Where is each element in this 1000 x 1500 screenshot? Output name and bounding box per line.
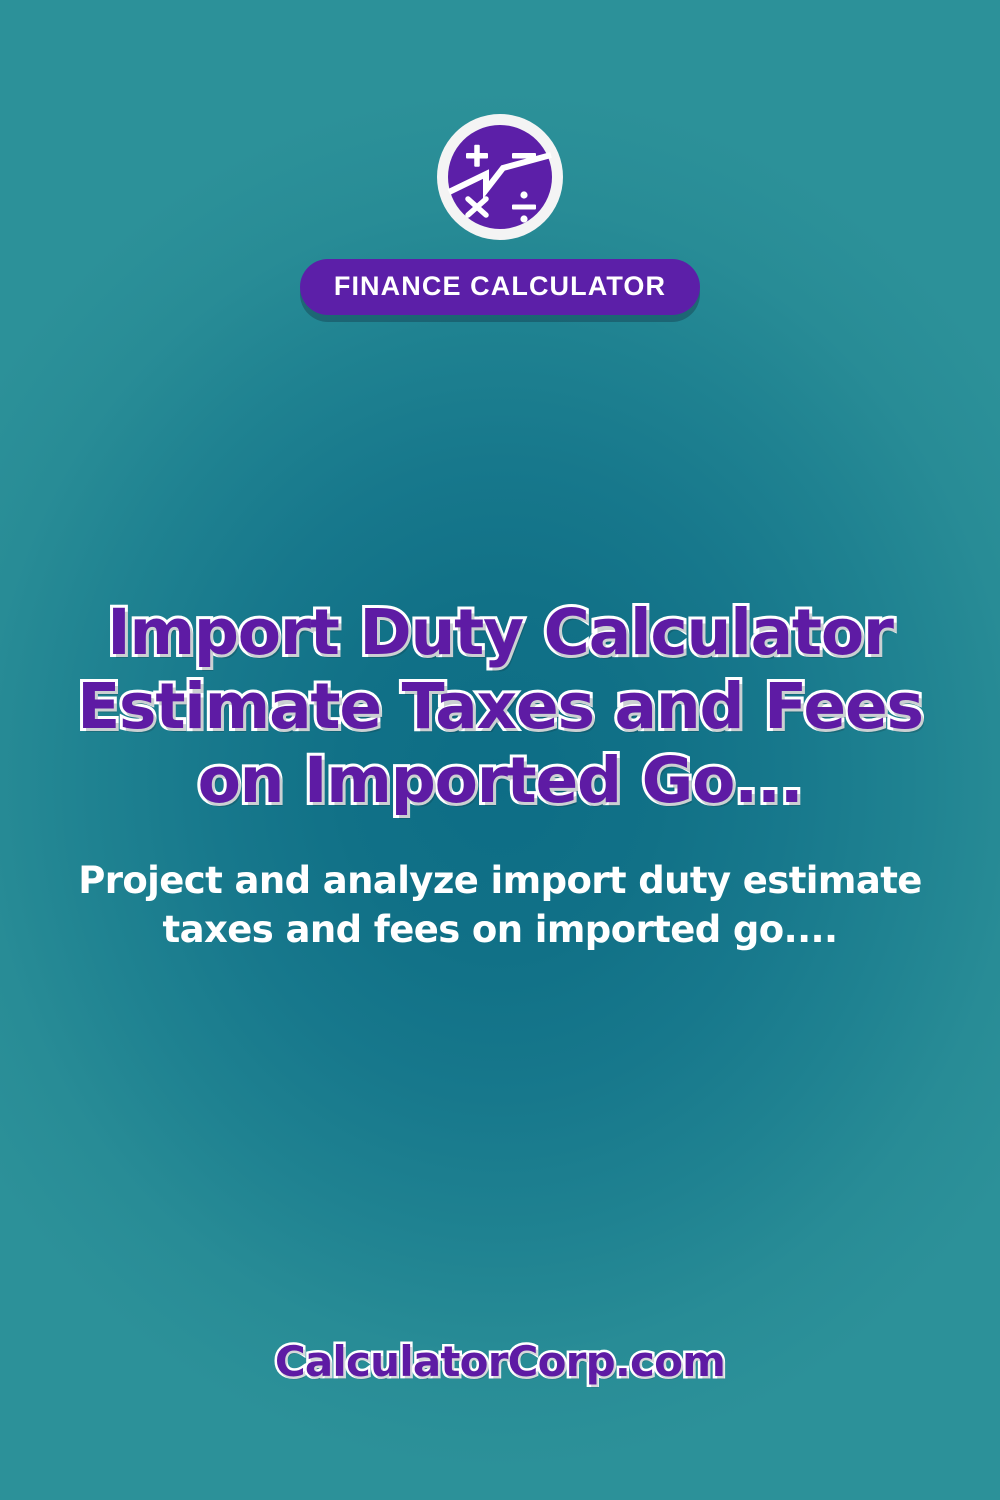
page-title: Import Duty Calculator Estimate Taxes an…	[50, 596, 950, 818]
footer-container: CalculatorCorp.com	[0, 1335, 1000, 1389]
category-badge[interactable]: FINANCE CALCULATOR	[300, 259, 700, 315]
headline-container: Import Duty Calculator Estimate Taxes an…	[50, 596, 950, 818]
calculator-circle-icon	[433, 110, 567, 244]
site-url[interactable]: CalculatorCorp.com	[0, 1335, 1000, 1389]
subtitle-container: Project and analyze import duty estimate…	[60, 856, 940, 954]
brand-block: FINANCE CALCULATOR	[0, 110, 1000, 315]
page-subtitle: Project and analyze import duty estimate…	[60, 856, 940, 954]
pin-poster: FINANCE CALCULATOR Import Duty Calculato…	[0, 0, 1000, 1500]
